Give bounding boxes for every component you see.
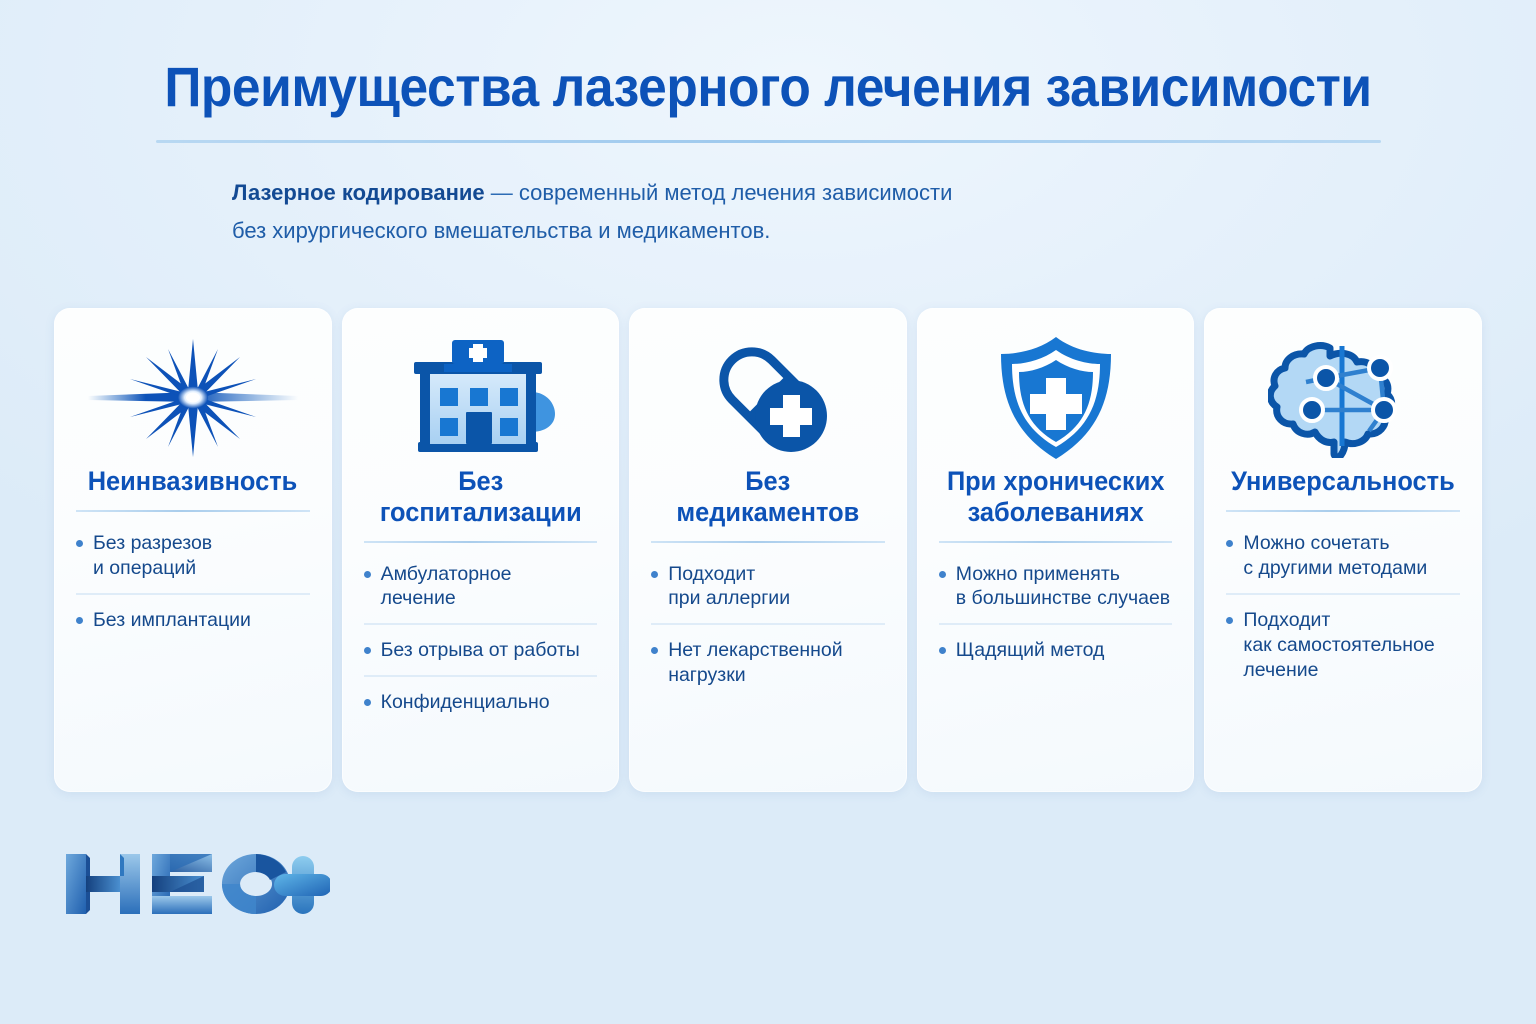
bullet-dot-icon — [1226, 617, 1233, 624]
card-bullet-list: Можно сочетать с другими методами Подход… — [1226, 518, 1460, 695]
bullet-text: Подходит как самостоятельное лечение — [1243, 608, 1434, 683]
card-title-divider — [1226, 510, 1460, 512]
benefit-cards: Неинвазивность Без разрезов и операций Б… — [54, 308, 1482, 792]
benefit-card-no-medication[interactable]: Без медикаментов Подходит при аллергии Н… — [629, 308, 907, 792]
list-item: Нет лекарственной нагрузки — [651, 625, 885, 700]
bullet-text: Нет лекарственной нагрузки — [668, 638, 842, 688]
bullet-text: Конфиденциально — [381, 690, 550, 715]
pills-medication-icon — [651, 334, 885, 462]
bullet-dot-icon — [76, 540, 83, 547]
bullet-dot-icon — [651, 571, 658, 578]
card-title: Неинвазивность — [88, 466, 298, 497]
subtitle-strong: Лазерное кодирование — [232, 180, 485, 205]
card-bullet-list: Можно применять в большинстве случаев Ща… — [939, 549, 1173, 676]
bullet-text: Без отрыва от работы — [381, 638, 580, 663]
list-item: Подходит как самостоятельное лечение — [1226, 595, 1460, 695]
subtitle-dash: — — [485, 180, 519, 205]
subtitle-line-1: Лазерное кодирование — современный метод… — [232, 174, 1152, 212]
card-title-divider — [76, 510, 310, 512]
card-bullet-list: Подходит при аллергии Нет лекарственной … — [651, 549, 885, 701]
bullet-text: Подходит при аллергии — [668, 562, 790, 612]
bullet-text: Без имплантации — [93, 608, 251, 633]
card-title: При хронических заболеваниях — [947, 466, 1165, 528]
card-title: Без госпитализации — [371, 466, 591, 528]
card-title: Универсальность — [1231, 466, 1455, 497]
list-item: Можно сочетать с другими методами — [1226, 518, 1460, 595]
card-title: Без медикаментов — [658, 466, 878, 528]
list-item: Конфиденциально — [364, 677, 598, 727]
bullet-dot-icon — [651, 647, 658, 654]
benefit-card-chronic-diseases[interactable]: При хронических заболеваниях Можно приме… — [917, 308, 1195, 792]
card-title-divider — [364, 541, 598, 543]
subtitle-rest: современный метод лечения зависимости — [519, 180, 953, 205]
benefit-card-universality[interactable]: Универсальность Можно сочетать с другими… — [1204, 308, 1482, 792]
bullet-dot-icon — [939, 571, 946, 578]
list-item: Можно применять в большинстве случаев — [939, 549, 1173, 626]
bullet-dot-icon — [1226, 540, 1233, 547]
title-divider — [156, 140, 1381, 143]
card-bullet-list: Без разрезов и операций Без имплантации — [76, 518, 310, 645]
bullet-text: Без разрезов и операций — [93, 531, 212, 581]
page-title: Преимущества лазерного лечения зависимос… — [61, 56, 1474, 118]
list-item: Без разрезов и операций — [76, 518, 310, 595]
card-bullet-list: Амбулаторное лечение Без отрыва от работ… — [364, 549, 598, 728]
bullet-dot-icon — [364, 571, 371, 578]
subtitle-block: Лазерное кодирование — современный метод… — [232, 174, 1152, 250]
list-item: Щадящий метод — [939, 625, 1173, 675]
shield-cross-icon — [939, 334, 1173, 462]
card-title-divider — [651, 541, 885, 543]
benefit-card-noninvasive[interactable]: Неинвазивность Без разрезов и операций Б… — [54, 308, 332, 792]
bullet-dot-icon — [939, 647, 946, 654]
bullet-dot-icon — [364, 699, 371, 706]
bullet-text: Можно применять в большинстве случаев — [956, 562, 1170, 612]
brain-network-icon — [1226, 334, 1460, 462]
page-header: Преимущества лазерного лечения зависимос… — [0, 0, 1536, 143]
benefit-card-no-hospitalization[interactable]: Без госпитализации Амбулаторное лечение … — [342, 308, 620, 792]
bullet-text: Можно сочетать с другими методами — [1243, 531, 1427, 581]
list-item: Без имплантации — [76, 595, 310, 645]
bullet-dot-icon — [76, 617, 83, 624]
list-item: Подходит при аллергии — [651, 549, 885, 626]
bullet-text: Щадящий метод — [956, 638, 1105, 663]
hospital-building-icon — [364, 334, 598, 462]
card-title-divider — [939, 541, 1173, 543]
subtitle-line-2: без хирургического вмешательства и медик… — [232, 212, 1152, 250]
brand-logo — [60, 838, 330, 930]
list-item: Без отрыва от работы — [364, 625, 598, 677]
infographic-page: Преимущества лазерного лечения зависимос… — [0, 0, 1536, 1024]
bullet-text: Амбулаторное лечение — [381, 562, 512, 612]
list-item: Амбулаторное лечение — [364, 549, 598, 626]
bullet-dot-icon — [364, 647, 371, 654]
laser-burst-icon — [76, 334, 310, 462]
